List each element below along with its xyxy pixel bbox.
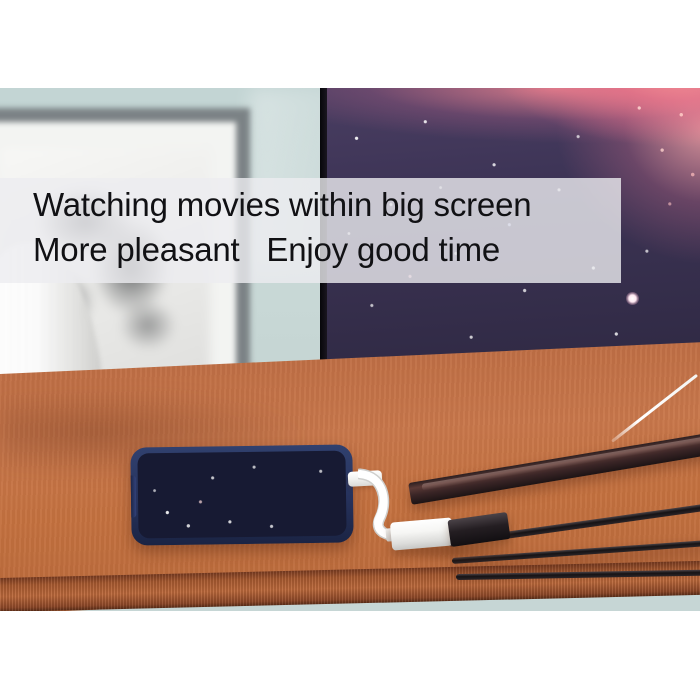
product-banner: Watching movies within big screen More p…: [0, 0, 700, 700]
hdmi-adapter: [390, 517, 454, 550]
headline-line-2: More pleasant Enjoy good time: [33, 227, 633, 272]
scene-photo: [0, 88, 700, 611]
headline-line-1: Watching movies within big screen: [33, 182, 633, 227]
smartphone-stars: [137, 451, 346, 539]
smartphone: [130, 444, 353, 545]
smartphone-notch: [131, 475, 137, 517]
tv-bright-star: [626, 292, 639, 305]
smartphone-screen: [137, 451, 346, 539]
